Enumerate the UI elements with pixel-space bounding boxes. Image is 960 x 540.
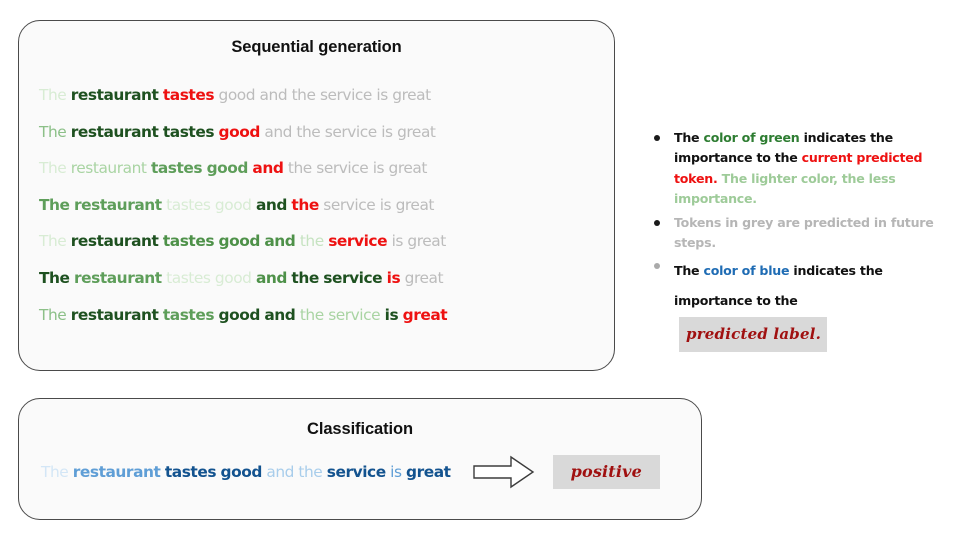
token: and xyxy=(264,306,295,324)
legend-text: Tokens in grey are predicted in future s… xyxy=(674,215,934,250)
token: tastes xyxy=(163,123,214,141)
token: restaurant xyxy=(71,123,159,141)
token: The xyxy=(39,86,66,104)
token: service xyxy=(323,196,375,214)
token: and xyxy=(252,159,283,177)
token: great xyxy=(389,159,427,177)
token: the xyxy=(300,306,324,324)
token: The xyxy=(39,159,66,177)
legend-text: The xyxy=(674,263,703,278)
token: great xyxy=(397,123,435,141)
bullet-icon xyxy=(654,263,660,269)
token: and xyxy=(264,123,292,141)
token: tastes xyxy=(163,86,214,104)
token: is xyxy=(376,86,387,104)
classification-row: The restaurant tastes good and the servi… xyxy=(19,455,701,489)
token: restaurant xyxy=(74,196,162,214)
token: great xyxy=(403,306,448,324)
token: service xyxy=(328,232,387,250)
token: service xyxy=(320,86,372,104)
token: good xyxy=(221,463,262,481)
legend-text: color of blue xyxy=(703,263,789,278)
token: service xyxy=(325,123,377,141)
token: and xyxy=(264,232,295,250)
token: good xyxy=(215,196,252,214)
token: great xyxy=(407,232,445,250)
token: restaurant xyxy=(71,232,159,250)
token: great xyxy=(405,269,443,287)
token: service xyxy=(323,269,382,287)
token-line: The restaurant tastes good and the servi… xyxy=(39,260,614,297)
token: the xyxy=(291,196,318,214)
token: tastes xyxy=(166,269,210,287)
token: great xyxy=(392,86,430,104)
token-line: The restaurant tastes good and the servi… xyxy=(39,223,614,260)
token-line: The restaurant tastes good and the servi… xyxy=(39,114,614,151)
token: great xyxy=(406,463,451,481)
token: is xyxy=(390,463,401,481)
token: the xyxy=(292,86,316,104)
predicted-label-chip: positive xyxy=(553,455,661,489)
sequential-generation-card: Sequential generation The restaurant tas… xyxy=(18,20,615,371)
bullet-icon xyxy=(654,220,660,226)
token: restaurant xyxy=(71,306,159,324)
token: is xyxy=(385,306,399,324)
token-line: The restaurant tastes good and the servi… xyxy=(39,150,614,187)
token: good xyxy=(215,269,252,287)
token: good xyxy=(219,123,260,141)
token: the xyxy=(291,269,318,287)
token: good xyxy=(207,159,248,177)
token: the xyxy=(288,159,312,177)
token-line: The restaurant tastes good and the servi… xyxy=(39,187,614,224)
right-arrow-icon xyxy=(473,455,535,489)
legend-item: Tokens in grey are predicted in future s… xyxy=(648,213,948,254)
token: is xyxy=(380,196,391,214)
token: tastes xyxy=(165,463,216,481)
token-line: The restaurant tastes good and the servi… xyxy=(39,297,614,334)
token: is xyxy=(373,159,384,177)
token: the xyxy=(298,463,322,481)
token: service xyxy=(327,463,386,481)
token: tastes xyxy=(163,306,214,324)
token: is xyxy=(381,123,392,141)
token: tastes xyxy=(163,232,214,250)
token: good xyxy=(219,86,256,104)
token: great xyxy=(396,196,434,214)
token: restaurant xyxy=(71,159,147,177)
token: The xyxy=(39,269,70,287)
legend-text: color of green xyxy=(703,130,799,145)
token: good xyxy=(219,306,260,324)
token: The xyxy=(39,306,66,324)
token: and xyxy=(260,86,288,104)
token: and xyxy=(266,463,294,481)
token: the xyxy=(300,232,324,250)
classification-title: Classification xyxy=(19,420,701,439)
token: tastes xyxy=(166,196,210,214)
token: The xyxy=(39,196,70,214)
token: the xyxy=(296,123,320,141)
token: tastes xyxy=(151,159,202,177)
bullet-icon xyxy=(654,135,660,141)
token-line-list: The restaurant tastes good and the servi… xyxy=(19,77,614,333)
token: The xyxy=(39,123,66,141)
classification-token-line: The restaurant tastes good and the servi… xyxy=(41,463,451,481)
legend-text: The xyxy=(674,130,703,145)
legend-item: The color of green indicates the importa… xyxy=(648,128,948,210)
legend: The color of green indicates the importa… xyxy=(648,128,948,354)
token: good xyxy=(219,232,260,250)
token-line: The restaurant tastes good and the servi… xyxy=(39,77,614,114)
token: restaurant xyxy=(73,463,161,481)
token: and xyxy=(256,269,287,287)
legend-item: The color of blue indicates the importan… xyxy=(648,256,948,351)
sequential-generation-title: Sequential generation xyxy=(19,38,614,57)
token: restaurant xyxy=(74,269,162,287)
token: is xyxy=(392,232,403,250)
token: is xyxy=(387,269,401,287)
token: and xyxy=(256,196,287,214)
token: The xyxy=(39,232,66,250)
token: restaurant xyxy=(71,86,159,104)
token: The xyxy=(41,463,68,481)
classification-card: Classification The restaurant tastes goo… xyxy=(18,398,702,520)
predicted-label-chip: predicted label. xyxy=(679,317,827,352)
token: service xyxy=(328,306,380,324)
token: service xyxy=(316,159,368,177)
